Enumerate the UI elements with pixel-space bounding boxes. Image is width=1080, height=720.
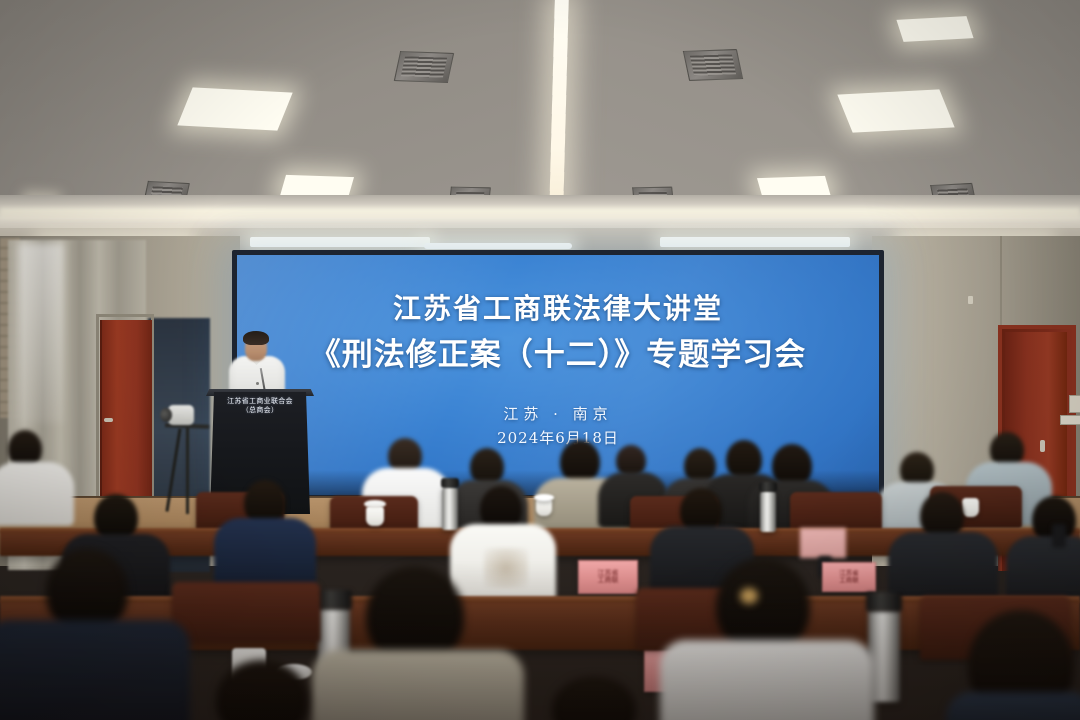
table-name-card: 江苏省 工商联 [822, 562, 876, 592]
thermos-cap [441, 478, 459, 488]
thermos-cap [316, 590, 352, 610]
podium-sign-line-2: （总商会） [210, 406, 310, 415]
table-name-card: 江苏省 工商联 [578, 560, 638, 594]
wall-fixture [968, 296, 973, 304]
audience-torso [946, 692, 1080, 720]
thermos [442, 486, 458, 530]
thermos-cap [759, 482, 777, 492]
ceiling-light-panel [896, 16, 973, 42]
audience-head [552, 676, 636, 720]
window-daylight-glow [18, 243, 64, 423]
hair-tie [740, 588, 758, 604]
audience-torso [0, 462, 74, 526]
thermos [760, 490, 776, 532]
screen-date: 2024年6月18日 [237, 427, 879, 448]
chair-cloth [800, 528, 846, 558]
teacup [366, 506, 384, 526]
name-card-line-2: 工商联 [839, 577, 859, 584]
camera-lens [160, 408, 172, 422]
screen-top-lightbar [424, 243, 572, 249]
screen-title-line-2: 《刑法修正案（十二）》专题学习会 [237, 329, 879, 374]
speaker-shirt-button [256, 382, 259, 385]
conference-table-edge [0, 596, 1080, 603]
ceiling-vent [394, 51, 454, 83]
shirt-print [484, 548, 528, 588]
podium-sign-line-1: 江苏省工商业联合会 [210, 397, 310, 406]
cove-light-glow [0, 208, 1080, 220]
right-door-handle[interactable] [1040, 440, 1045, 452]
smartphone[interactable] [1052, 524, 1066, 548]
conference-hall-photo: 江苏省工商联法律大讲堂 《刑法修正案（十二）》专题学习会 江苏 · 南京 202… [0, 0, 1080, 720]
screen-location: 江苏 · 南京 [237, 403, 879, 424]
audience-torso [312, 650, 524, 720]
thermos-cap [866, 592, 902, 612]
audience-torso [0, 620, 190, 720]
screen-title-line-1: 江苏省工商联法律大讲堂 [237, 287, 879, 327]
speaker-hair [243, 331, 269, 345]
teacup-lid [364, 500, 386, 508]
tripod-leg [186, 426, 189, 514]
ceiling-light-panel [837, 89, 954, 132]
light-switch-plate[interactable] [1069, 395, 1080, 413]
soffit-lamp [660, 237, 850, 247]
audience-torso [660, 640, 874, 720]
podium-sign: 江苏省工商业联合会 （总商会） [210, 397, 310, 415]
conference-chair [172, 582, 320, 642]
audience-torso [214, 518, 316, 590]
name-card-line-2: 工商联 [598, 577, 619, 584]
teacup-lid [534, 494, 554, 501]
teacup [962, 498, 979, 517]
left-door-handle[interactable] [104, 418, 113, 422]
ceiling-vent [683, 49, 743, 81]
soffit-lamp [250, 237, 430, 247]
ceiling-light-panel [177, 87, 292, 130]
wall-outlet[interactable] [1060, 415, 1080, 425]
